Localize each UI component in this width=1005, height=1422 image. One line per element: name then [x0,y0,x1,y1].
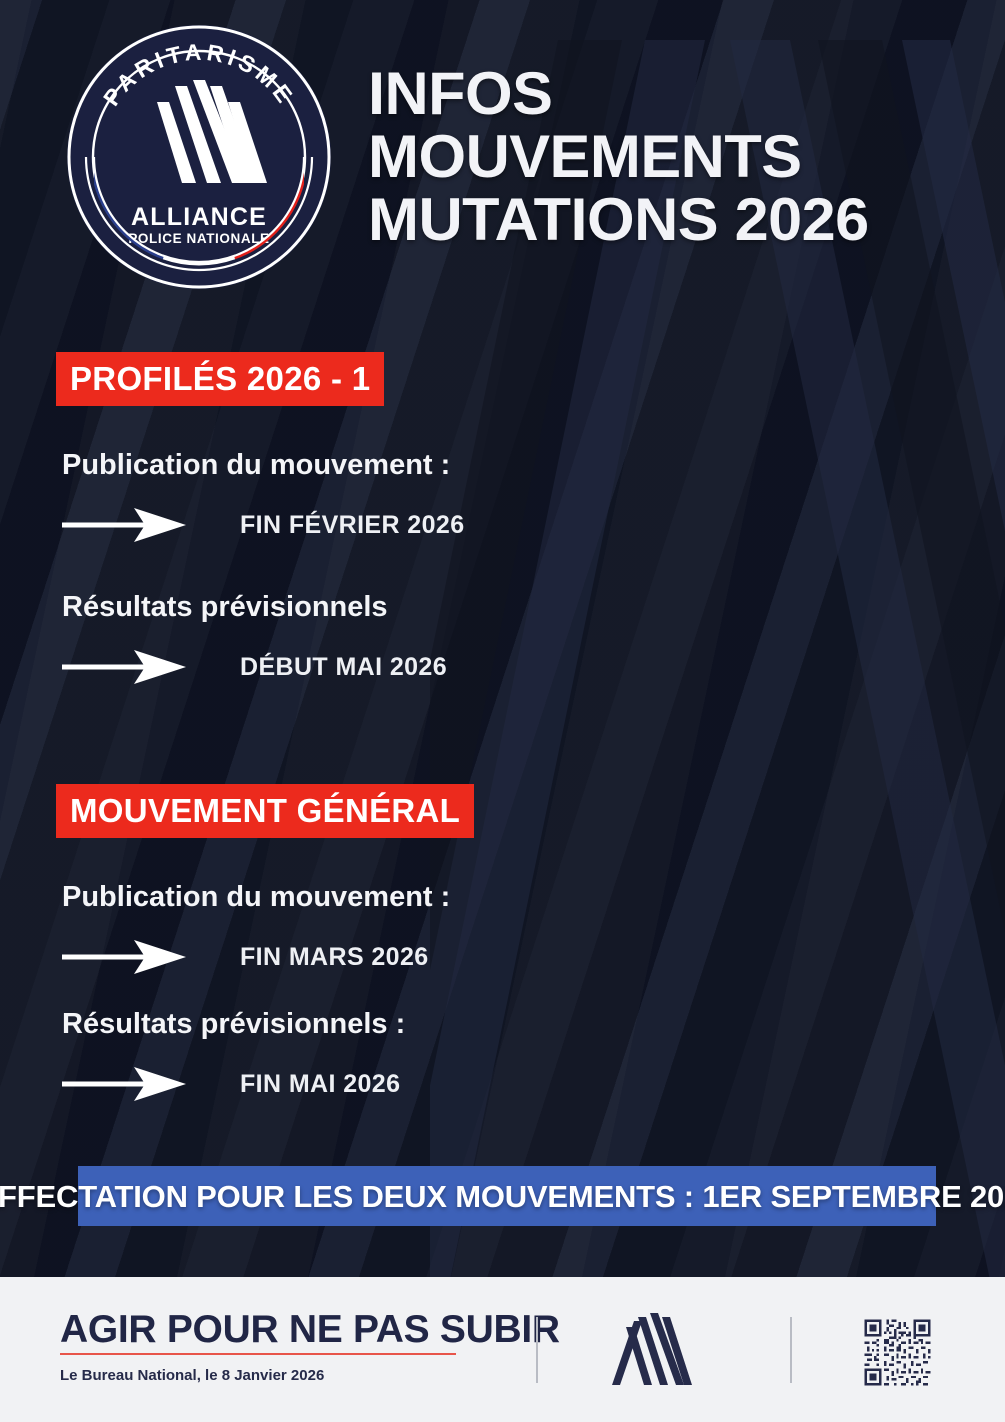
footer-divider-left [536,1317,538,1383]
poster-header: PARITARISME ALLIANCE POLICE NATIONALE [0,0,1005,300]
footer-divider-right [790,1317,792,1383]
arrow-right-icon [62,1061,188,1107]
footer-bureau-line: Le Bureau National, le 8 Janvier 2026 [60,1367,460,1385]
section-badge-mouvement-general: MOUVEMENT GÉNÉRAL [56,784,474,838]
poster-title: INFOS MOUVEMENTS MUTATIONS 2026 [368,62,968,251]
footer-slogan: AGIR POUR NE PAS SUBIR [60,1309,460,1350]
row-general-resultats: FIN MAI 2026 [62,1061,474,1107]
section-mouvement-general: MOUVEMENT GÉNÉRAL Publication du mouveme… [0,784,474,1107]
svg-text:POLICE NATIONALE: POLICE NATIONALE [128,231,269,246]
poster-body: PARITARISME ALLIANCE POLICE NATIONALE [0,0,1005,1277]
footer-slogan-block: AGIR POUR NE PAS SUBIR Le Bureau Nationa… [60,1309,460,1385]
row-label-publication-profiles: Publication du mouvement : [62,448,465,482]
affectation-banner-text: AFFECTATION POUR LES DEUX MOUVEMENTS : 1… [0,1181,1005,1212]
title-line-3: MUTATIONS 2026 [368,188,980,251]
qr-code-icon[interactable] [862,1317,933,1388]
title-line-1: INFOS [368,62,980,125]
row-label-resultats-general: Résultats prévisionnels : [62,1007,474,1041]
title-line-2: MOUVEMENTS [368,125,980,188]
svg-text:ALLIANCE: ALLIANCE [131,203,267,231]
arrow-right-icon [62,644,188,690]
row-value-resultats-profiles: DÉBUT MAI 2026 [240,654,447,680]
poster: PARITARISME ALLIANCE POLICE NATIONALE [0,0,1005,1422]
affectation-banner: AFFECTATION POUR LES DEUX MOUVEMENTS : 1… [78,1166,936,1226]
arrow-right-icon [62,934,188,980]
row-value-resultats-general: FIN MAI 2026 [240,1071,400,1097]
alliance-logo-badge: PARITARISME ALLIANCE POLICE NATIONALE [60,18,338,296]
row-value-publication-general: FIN MARS 2026 [240,944,429,970]
row-profiles-publication: FIN FÉVRIER 2026 [62,502,465,548]
row-general-publication: FIN MARS 2026 [62,934,474,980]
row-value-publication-profiles: FIN FÉVRIER 2026 [240,512,465,538]
section-badge-profiles: PROFILÉS 2026 - 1 [56,352,384,406]
footer-alliance-a-monogram-icon [608,1313,700,1385]
row-label-resultats-profiles: Résultats prévisionnels [62,590,465,624]
arrow-right-icon [62,502,188,548]
poster-footer: AGIR POUR NE PAS SUBIR Le Bureau Nationa… [0,1277,1005,1422]
footer-slogan-rule [60,1353,456,1355]
row-profiles-resultats: DÉBUT MAI 2026 [62,644,465,690]
row-label-publication-general: Publication du mouvement : [62,880,474,914]
section-profiles: PROFILÉS 2026 - 1 Publication du mouveme… [0,352,465,690]
